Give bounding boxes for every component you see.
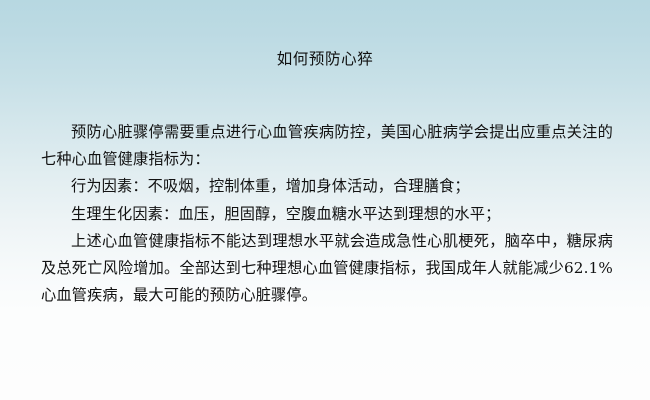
page-title: 如何预防心猝 (0, 48, 650, 70)
presentation-slide: 如何预防心猝 预防心脏骤停需要重点进行心血管疾病防控，美国心脏病学会提出应重点关… (0, 0, 650, 400)
paragraph-conclusion: 上述心血管健康指标不能达到理想水平就会造成急性心肌梗死，脑卒中，糖尿病及总死亡风… (41, 228, 613, 310)
paragraph-behavioral-factors: 行为因素：不吸烟，控制体重，增加身体活动，合理膳食； (41, 173, 613, 200)
paragraph-intro: 预防心脏骤停需要重点进行心血管疾病防控，美国心脏病学会提出应重点关注的七种心血管… (41, 119, 613, 173)
slide-body-content: 预防心脏骤停需要重点进行心血管疾病防控，美国心脏病学会提出应重点关注的七种心血管… (41, 119, 613, 309)
paragraph-physiological-factors: 生理生化因素：血压，胆固醇，空腹血糖水平达到理想的水平； (41, 201, 613, 228)
